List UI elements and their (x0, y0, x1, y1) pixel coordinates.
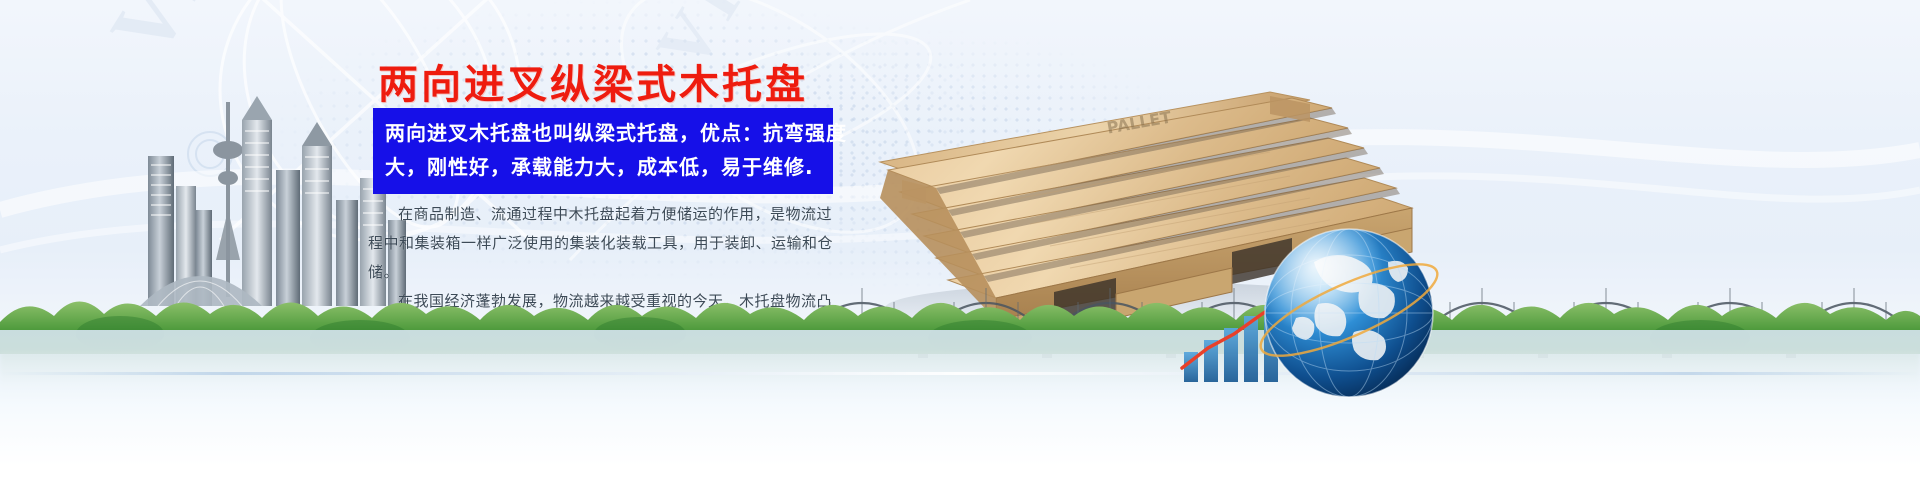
highlight-line-2: 大，刚性好，承载能力大，成本低，易于维修. (385, 150, 823, 184)
water-reflection-area (0, 330, 1920, 500)
highlight-line-1: 两向进叉木托盘也叫纵梁式托盘，优点：抗弯强度 (385, 116, 823, 150)
highlight-callout-box: 两向进叉木托盘也叫纵梁式托盘，优点：抗弯强度 大，刚性好，承载能力大，成本低，易… (373, 108, 833, 194)
horizon-line (0, 372, 1920, 375)
product-banner: VIII VII VII VI (0, 0, 1920, 500)
body-paragraph-1: 在商品制造、流通过程中木托盘起着方便储运的作用，是物流过程中和集装箱一样广泛使用… (368, 200, 838, 287)
earth-globe-graphic (1258, 222, 1440, 404)
page-title: 两向进叉纵梁式木托盘 (378, 52, 808, 110)
